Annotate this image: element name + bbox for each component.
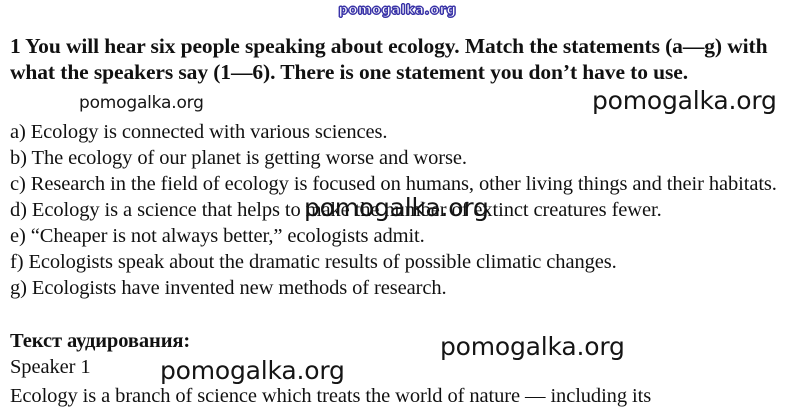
transcript-first-line: Ecology is a branch of science which tre… [10, 383, 790, 409]
list-item: g) Ecologists have invented new methods … [10, 275, 788, 301]
watermark-middle: pomogalka.org [304, 193, 489, 222]
list-item: f) Ecologists speak about the dramatic r… [10, 249, 788, 275]
list-item: e) “Cheaper is not always better,” ecolo… [10, 223, 788, 249]
watermark-lower-left: pomogalka.org [160, 356, 345, 385]
transcript-heading: Текст аудирования: [10, 328, 190, 354]
watermark-near-use: pomogalka.org [79, 93, 204, 113]
list-item: b) The ecology of our planet is getting … [10, 145, 788, 171]
list-item: a) Ecology is connected with various sci… [10, 119, 788, 145]
exercise-instruction: 1 You will hear six people speaking abou… [10, 33, 789, 85]
speaker-label: Speaker 1 [10, 354, 91, 380]
watermark-top-outlined: pomogalka.org [0, 3, 795, 18]
watermark-upper-right: pomogalka.org [592, 86, 777, 115]
document-page: pomogalka.org 1 You will hear six people… [0, 0, 795, 414]
watermark-lower-right: pomogalka.org [440, 332, 625, 361]
